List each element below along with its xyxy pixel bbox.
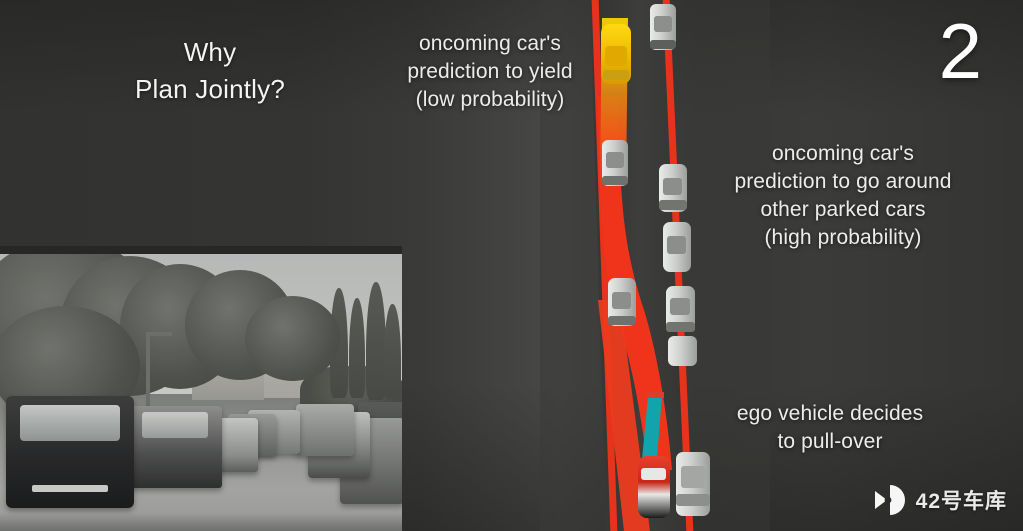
parked-car-right-4 bbox=[666, 286, 695, 332]
callout-ego-decision: ego vehicle decides to pull-over bbox=[700, 400, 960, 456]
page-title-line1: Why bbox=[60, 34, 360, 71]
callout-oncoming-yield-line1: oncoming car's bbox=[384, 30, 596, 58]
page-title-line2: Plan Jointly? bbox=[60, 71, 360, 108]
slide-frame: Why Plan Jointly? 2 bbox=[0, 0, 1023, 531]
parked-car-right-1 bbox=[650, 4, 676, 50]
callout-ego-decision-line1: ego vehicle decides bbox=[700, 400, 960, 428]
callout-oncoming-go-around-line3: other parked cars bbox=[693, 196, 993, 224]
parked-car-right-5 bbox=[668, 336, 697, 366]
callout-oncoming-go-around-line1: oncoming car's bbox=[693, 140, 993, 168]
ego-pull-over-path-cap bbox=[648, 392, 664, 398]
parked-car-left-1 bbox=[602, 140, 628, 186]
photo-top-letterbox bbox=[0, 246, 402, 254]
page-title: Why Plan Jointly? bbox=[60, 34, 360, 108]
photo-parked-car-right bbox=[296, 404, 354, 456]
callout-oncoming-go-around-line4: (high probability) bbox=[693, 224, 993, 252]
ego-vehicle bbox=[638, 456, 670, 518]
photo-lead-suv bbox=[6, 396, 134, 508]
oncoming-car bbox=[601, 24, 631, 84]
photo-parked-car-left bbox=[130, 406, 222, 488]
parked-car-left-2 bbox=[608, 278, 636, 326]
parked-car-right-6 bbox=[676, 452, 710, 516]
photo-tree bbox=[245, 296, 340, 381]
dashcam-street-photo bbox=[0, 246, 402, 531]
photo-street-lamp bbox=[146, 332, 150, 412]
callout-oncoming-yield: oncoming car's prediction to yield (low … bbox=[384, 30, 596, 114]
circle-play-logo-icon bbox=[873, 483, 907, 517]
parked-car-right-3 bbox=[663, 222, 691, 272]
step-number: 2 bbox=[939, 12, 981, 90]
callout-oncoming-go-around-line2: prediction to go around bbox=[693, 168, 993, 196]
parked-car-right-2 bbox=[659, 164, 687, 212]
watermark-text: 42号车库 bbox=[916, 485, 1007, 515]
callout-oncoming-yield-line2: prediction to yield bbox=[384, 58, 596, 86]
callout-oncoming-yield-line3: (low probability) bbox=[384, 86, 596, 114]
callout-oncoming-go-around: oncoming car's prediction to go around o… bbox=[693, 140, 993, 253]
callout-ego-decision-line2: to pull-over bbox=[700, 428, 960, 456]
watermark: 42号车库 bbox=[873, 483, 1007, 517]
